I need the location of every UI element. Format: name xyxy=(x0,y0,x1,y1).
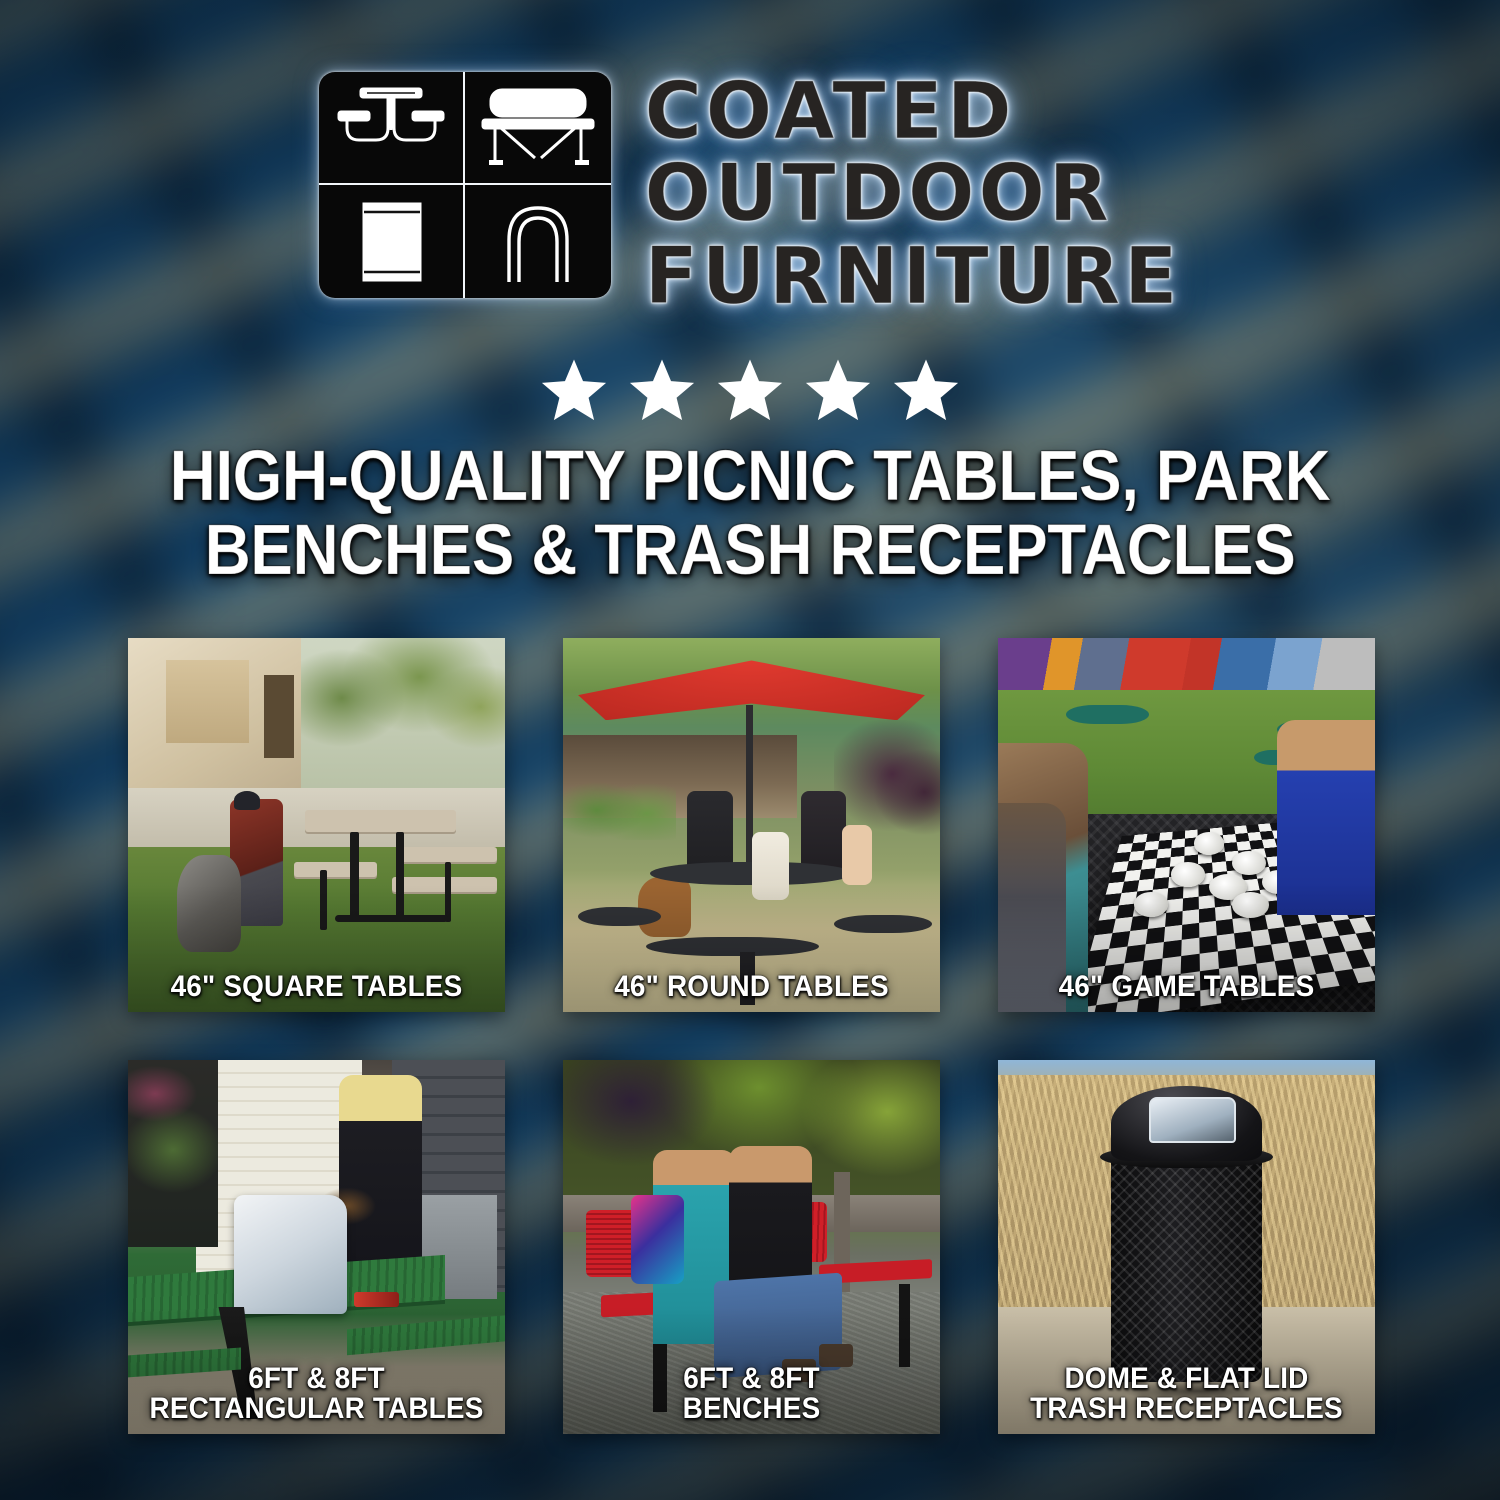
product-tile-benches[interactable]: 6FT & 8FT BENCHES xyxy=(563,1060,940,1434)
product-caption-line-1: 46" GAME TABLES xyxy=(1059,970,1315,1003)
product-caption-line-1: 46" SQUARE TABLES xyxy=(171,970,463,1003)
product-caption: 46" ROUND TABLES xyxy=(576,972,927,1003)
product-caption-line-1: 6FT & 8FT xyxy=(683,1362,820,1395)
product-caption: 46" GAME TABLES xyxy=(1011,972,1362,1003)
product-caption: 6FT & 8FT BENCHES xyxy=(576,1364,927,1425)
page-title: HIGH-QUALITY PICNIC TABLES, PARK BENCHES… xyxy=(75,440,1425,588)
park-bench-icon xyxy=(465,72,611,185)
brand-name-line-2: OUTDOOR xyxy=(645,156,1182,232)
product-category-grid: 46" SQUARE TABLES xyxy=(128,638,1376,1434)
star-icon xyxy=(889,356,963,426)
picnic-table-icon xyxy=(319,72,465,185)
brand-name-line-1: COATED xyxy=(645,74,1182,150)
product-category-poster: COATED OUTDOOR FURNITURE HIGH-QUALITY PI… xyxy=(0,0,1500,1500)
headline-line-1: HIGH-QUALITY PICNIC TABLES, PARK xyxy=(75,440,1425,514)
brand-name-line-3: FURNITURE xyxy=(645,239,1182,315)
product-caption-line-1: 6FT & 8FT xyxy=(248,1362,385,1395)
star-icon xyxy=(713,356,787,426)
product-tile-rectangular-tables[interactable]: 6FT & 8FT RECTANGULAR TABLES xyxy=(128,1060,505,1434)
logo-mark xyxy=(319,72,611,298)
star-rating xyxy=(0,356,1500,426)
product-caption: 46" SQUARE TABLES xyxy=(141,972,492,1003)
product-caption-line-2: RECTANGULAR TABLES xyxy=(141,1394,492,1425)
product-caption-line-2: BENCHES xyxy=(576,1394,927,1425)
product-tile-game-tables[interactable]: 46" GAME TABLES xyxy=(998,638,1375,1012)
product-caption-line-1: DOME & FLAT LID xyxy=(1064,1362,1308,1395)
product-caption-line-1: 46" ROUND TABLES xyxy=(614,970,889,1003)
product-caption-line-2: TRASH RECEPTACLES xyxy=(1011,1394,1362,1425)
product-tile-round-tables[interactable]: 46" ROUND TABLES xyxy=(563,638,940,1012)
star-icon xyxy=(625,356,699,426)
headline-line-2: BENCHES & TRASH RECEPTACLES xyxy=(75,514,1425,588)
star-icon xyxy=(801,356,875,426)
product-tile-square-tables[interactable]: 46" SQUARE TABLES xyxy=(128,638,505,1012)
trash-receptacle-icon xyxy=(319,185,465,298)
product-caption: 6FT & 8FT RECTANGULAR TABLES xyxy=(141,1364,492,1425)
product-caption: DOME & FLAT LID TRASH RECEPTACLES xyxy=(1011,1364,1362,1425)
bike-rack-icon xyxy=(465,185,611,298)
star-icon xyxy=(537,356,611,426)
product-tile-trash-receptacles[interactable]: DOME & FLAT LID TRASH RECEPTACLES xyxy=(998,1060,1375,1434)
brand-wordmark: COATED OUTDOOR FURNITURE xyxy=(645,72,1182,315)
brand-logo[interactable]: COATED OUTDOOR FURNITURE xyxy=(0,72,1500,315)
